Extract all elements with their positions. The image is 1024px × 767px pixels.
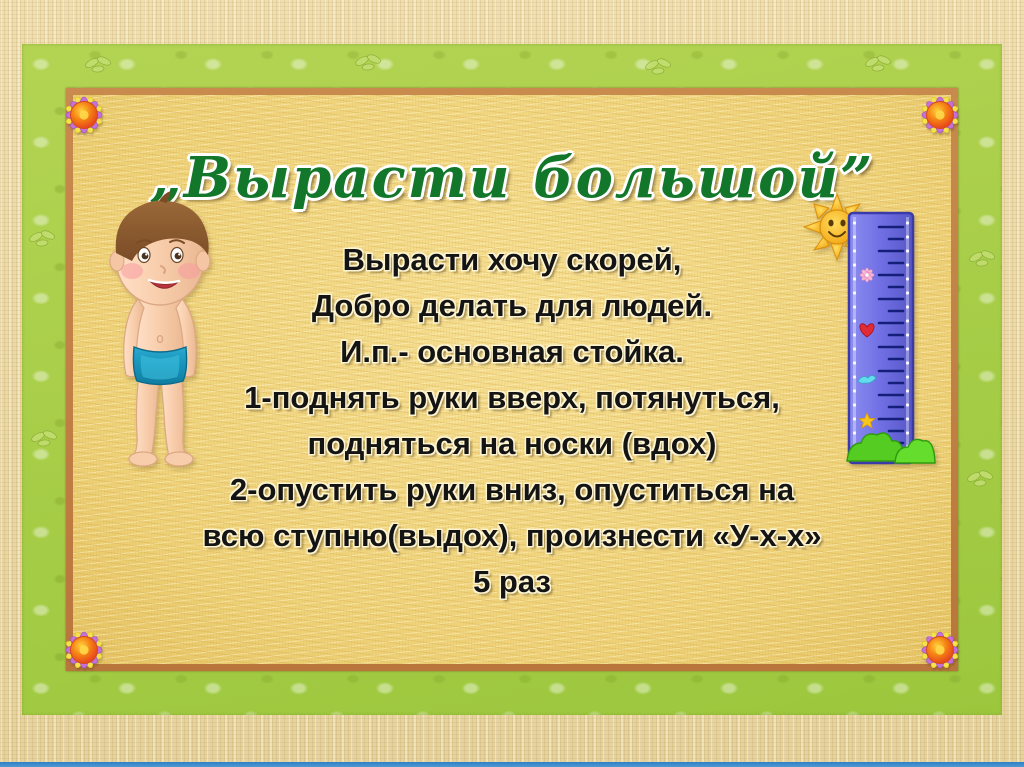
leaf-sprig-icon (862, 49, 896, 75)
leaf-sprig-icon (352, 48, 386, 74)
leaf-sprig-icon (28, 424, 62, 450)
blossom-sticker-icon (860, 268, 874, 282)
verse-line: 5 раз (73, 559, 951, 605)
slide-canvas: „Вырасти большой” Вырасти хочу скорей, Д… (0, 0, 1024, 767)
leaf-sprig-icon (26, 224, 60, 250)
boy-illustration-icon (85, 187, 235, 487)
leaf-sprig-icon (642, 52, 676, 78)
verse-line: всю ступню(выдох), произнести «У-х-х» (73, 513, 951, 559)
flower-icon (897, 607, 983, 693)
bottom-blue-rule (0, 762, 1024, 767)
leaf-sprig-icon (966, 244, 1000, 270)
flower-icon (897, 72, 983, 158)
flower-icon (41, 72, 127, 158)
content-panel: „Вырасти большой” Вырасти хочу скорей, Д… (73, 95, 951, 664)
leaf-sprig-icon (964, 464, 998, 490)
flower-icon (41, 607, 127, 693)
growth-ruler-icon (803, 193, 943, 493)
